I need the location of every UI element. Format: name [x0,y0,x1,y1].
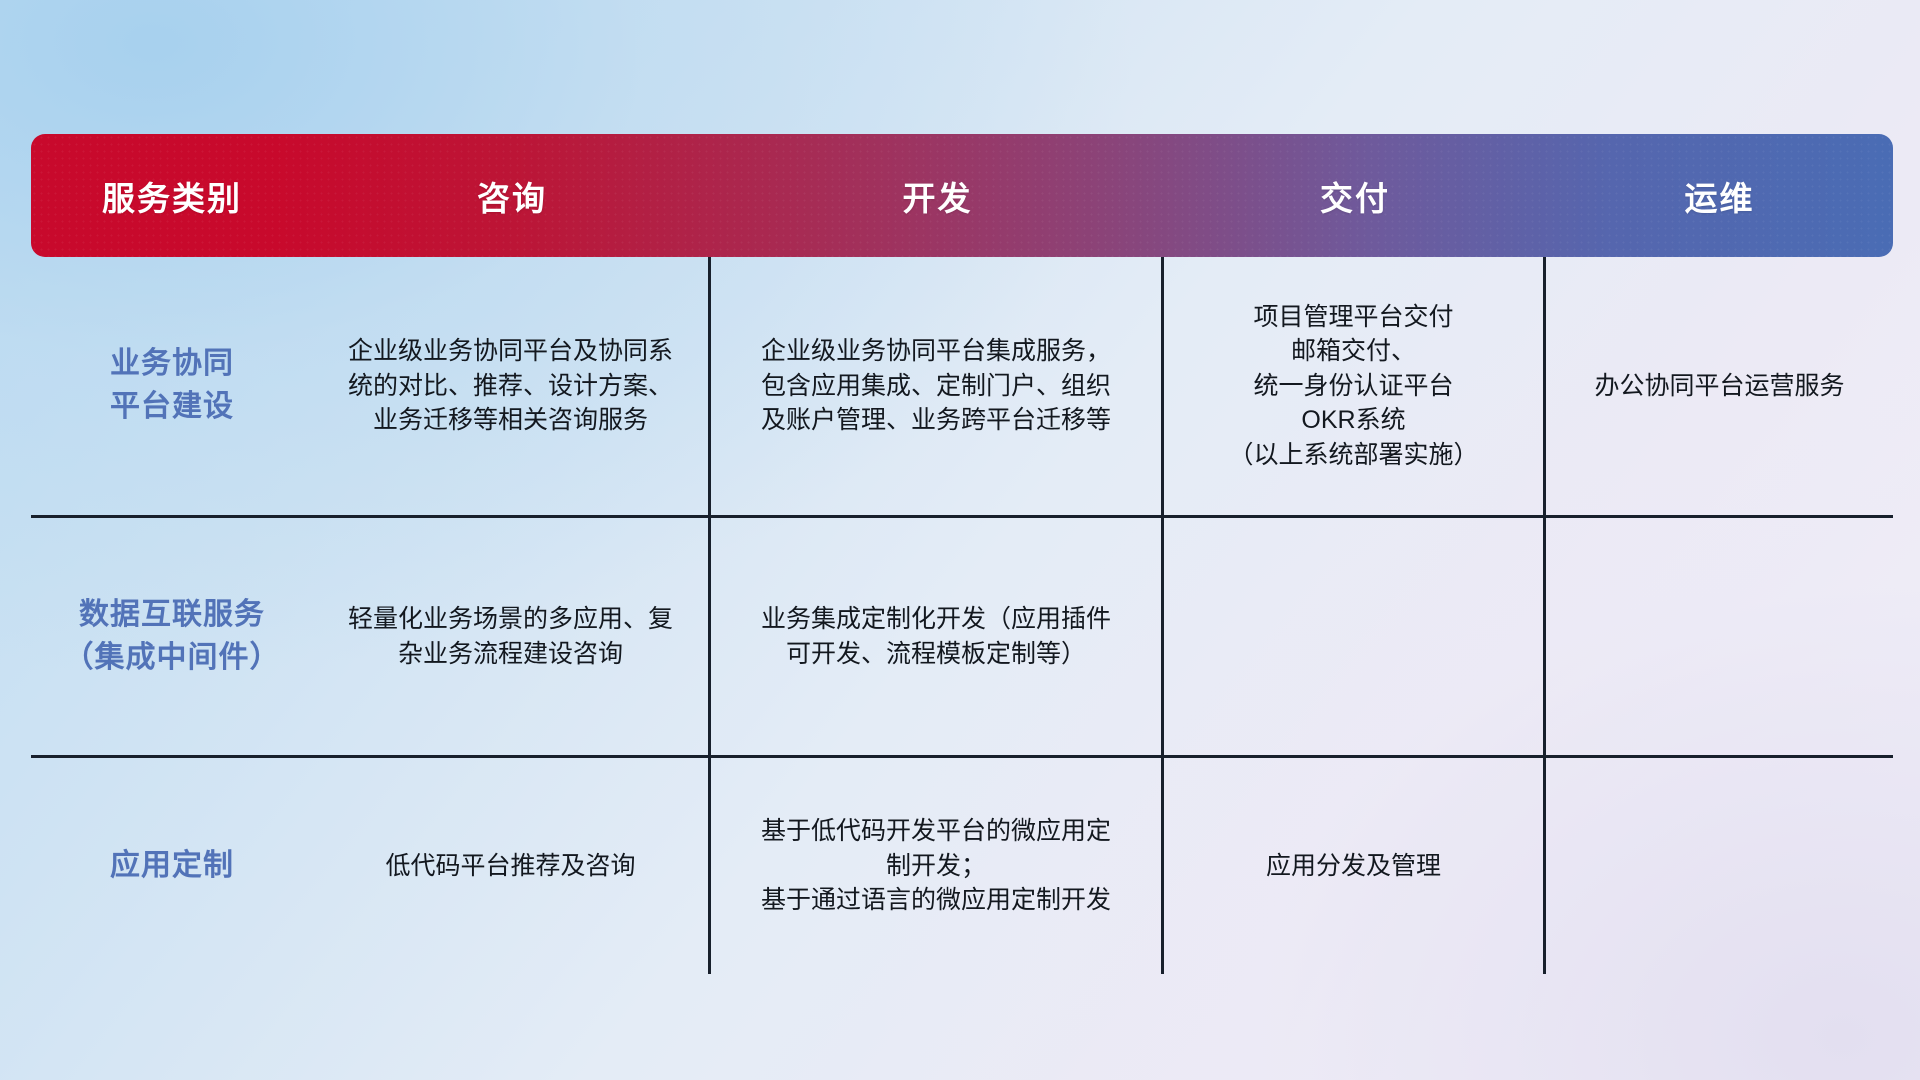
table-header-row: 服务类别 咨询 开发 交付 运维 [31,134,1893,257]
cell-operations-row2 [1546,518,1893,755]
cell-consulting-row3: 低代码平台推荐及咨询 [313,758,711,974]
column-header-category: 服务类别 [31,134,313,257]
column-header-development: 开发 [711,134,1164,257]
cell-consulting-row1: 企业级业务协同平台及协同系 统的对比、推荐、设计方案、 业务迁移等相关咨询服务 [313,257,711,515]
table-row: 业务协同 平台建设 企业级业务协同平台及协同系 统的对比、推荐、设计方案、 业务… [31,257,1893,518]
column-header-operations: 运维 [1546,134,1893,257]
cell-consulting-row2: 轻量化业务场景的多应用、复 杂业务流程建设咨询 [313,518,711,755]
slide-canvas: 服务类别 咨询 开发 交付 运维 业务协同 平台建设 企业级业务协同平台及协同系… [0,0,1920,1080]
column-header-delivery: 交付 [1164,134,1546,257]
cell-delivery-row1: 项目管理平台交付 邮箱交付、 统一身份认证平台 OKR系统 （以上系统部署实施） [1164,257,1546,515]
row-label-app-customization: 应用定制 [31,758,313,974]
cell-operations-row3 [1546,758,1893,974]
cell-operations-row1: 办公协同平台运营服务 [1546,257,1893,515]
row-label-business-collaboration: 业务协同 平台建设 [31,257,313,515]
cell-development-row2: 业务集成定制化开发（应用插件 可开发、流程模板定制等） [711,518,1164,755]
cell-delivery-row3: 应用分发及管理 [1164,758,1546,974]
table-body: 业务协同 平台建设 企业级业务协同平台及协同系 统的对比、推荐、设计方案、 业务… [31,257,1893,974]
cell-delivery-row2 [1164,518,1546,755]
cell-development-row1: 企业级业务协同平台集成服务， 包含应用集成、定制门户、组织 及账户管理、业务跨平… [711,257,1164,515]
table-row: 数据互联服务 （集成中间件） 轻量化业务场景的多应用、复 杂业务流程建设咨询 业… [31,518,1893,758]
service-matrix-table: 服务类别 咨询 开发 交付 运维 业务协同 平台建设 企业级业务协同平台及协同系… [31,134,1893,952]
row-label-data-interconnect: 数据互联服务 （集成中间件） [31,518,313,755]
cell-development-row3: 基于低代码开发平台的微应用定 制开发； 基于通过语言的微应用定制开发 [711,758,1164,974]
column-header-consulting: 咨询 [313,134,711,257]
table-row: 应用定制 低代码平台推荐及咨询 基于低代码开发平台的微应用定 制开发； 基于通过… [31,758,1893,974]
